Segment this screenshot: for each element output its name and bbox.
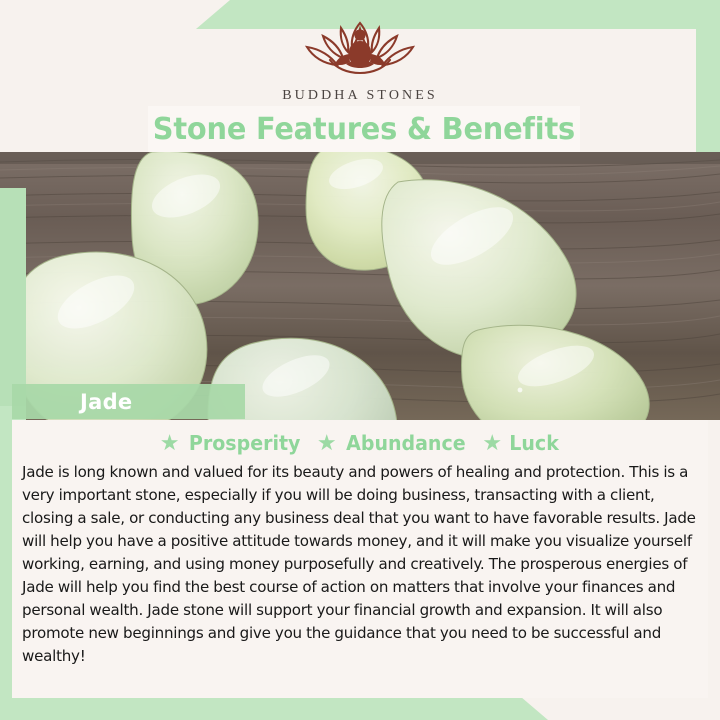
page-title: Stone Features & Benefits (153, 112, 575, 147)
star-icon: ★ (317, 432, 337, 454)
brand-name: BUDDHA STONES (282, 88, 438, 104)
stone-name-banner: Jade (12, 384, 245, 419)
decorative-band-left-overlay (0, 188, 26, 406)
benefit-label: Abundance (346, 431, 465, 455)
stone-name-label: Jade (80, 390, 132, 414)
lotus-meditation-icon (294, 14, 426, 85)
stone-photo (0, 152, 720, 420)
benefit-item-luck: ★ Luck (482, 431, 560, 455)
benefit-label: Prosperity (188, 431, 300, 455)
benefits-row: ★ Prosperity ★ Abundance ★ Luck (12, 420, 708, 455)
brand-logo: BUDDHA STONES (0, 14, 720, 104)
star-icon: ★ (482, 432, 502, 454)
benefit-item-abundance: ★ Abundance (317, 431, 468, 455)
stone-description: Jade is long known and valued for its be… (22, 461, 700, 667)
stone-photo-illustration (0, 152, 720, 420)
content-panel: ★ Prosperity ★ Abundance ★ Luck Jade is … (12, 420, 708, 698)
benefit-item-prosperity: ★ Prosperity (160, 431, 303, 455)
benefit-label: Luck (509, 431, 559, 455)
star-icon: ★ (160, 432, 180, 454)
title-banner: Stone Features & Benefits (148, 106, 580, 152)
